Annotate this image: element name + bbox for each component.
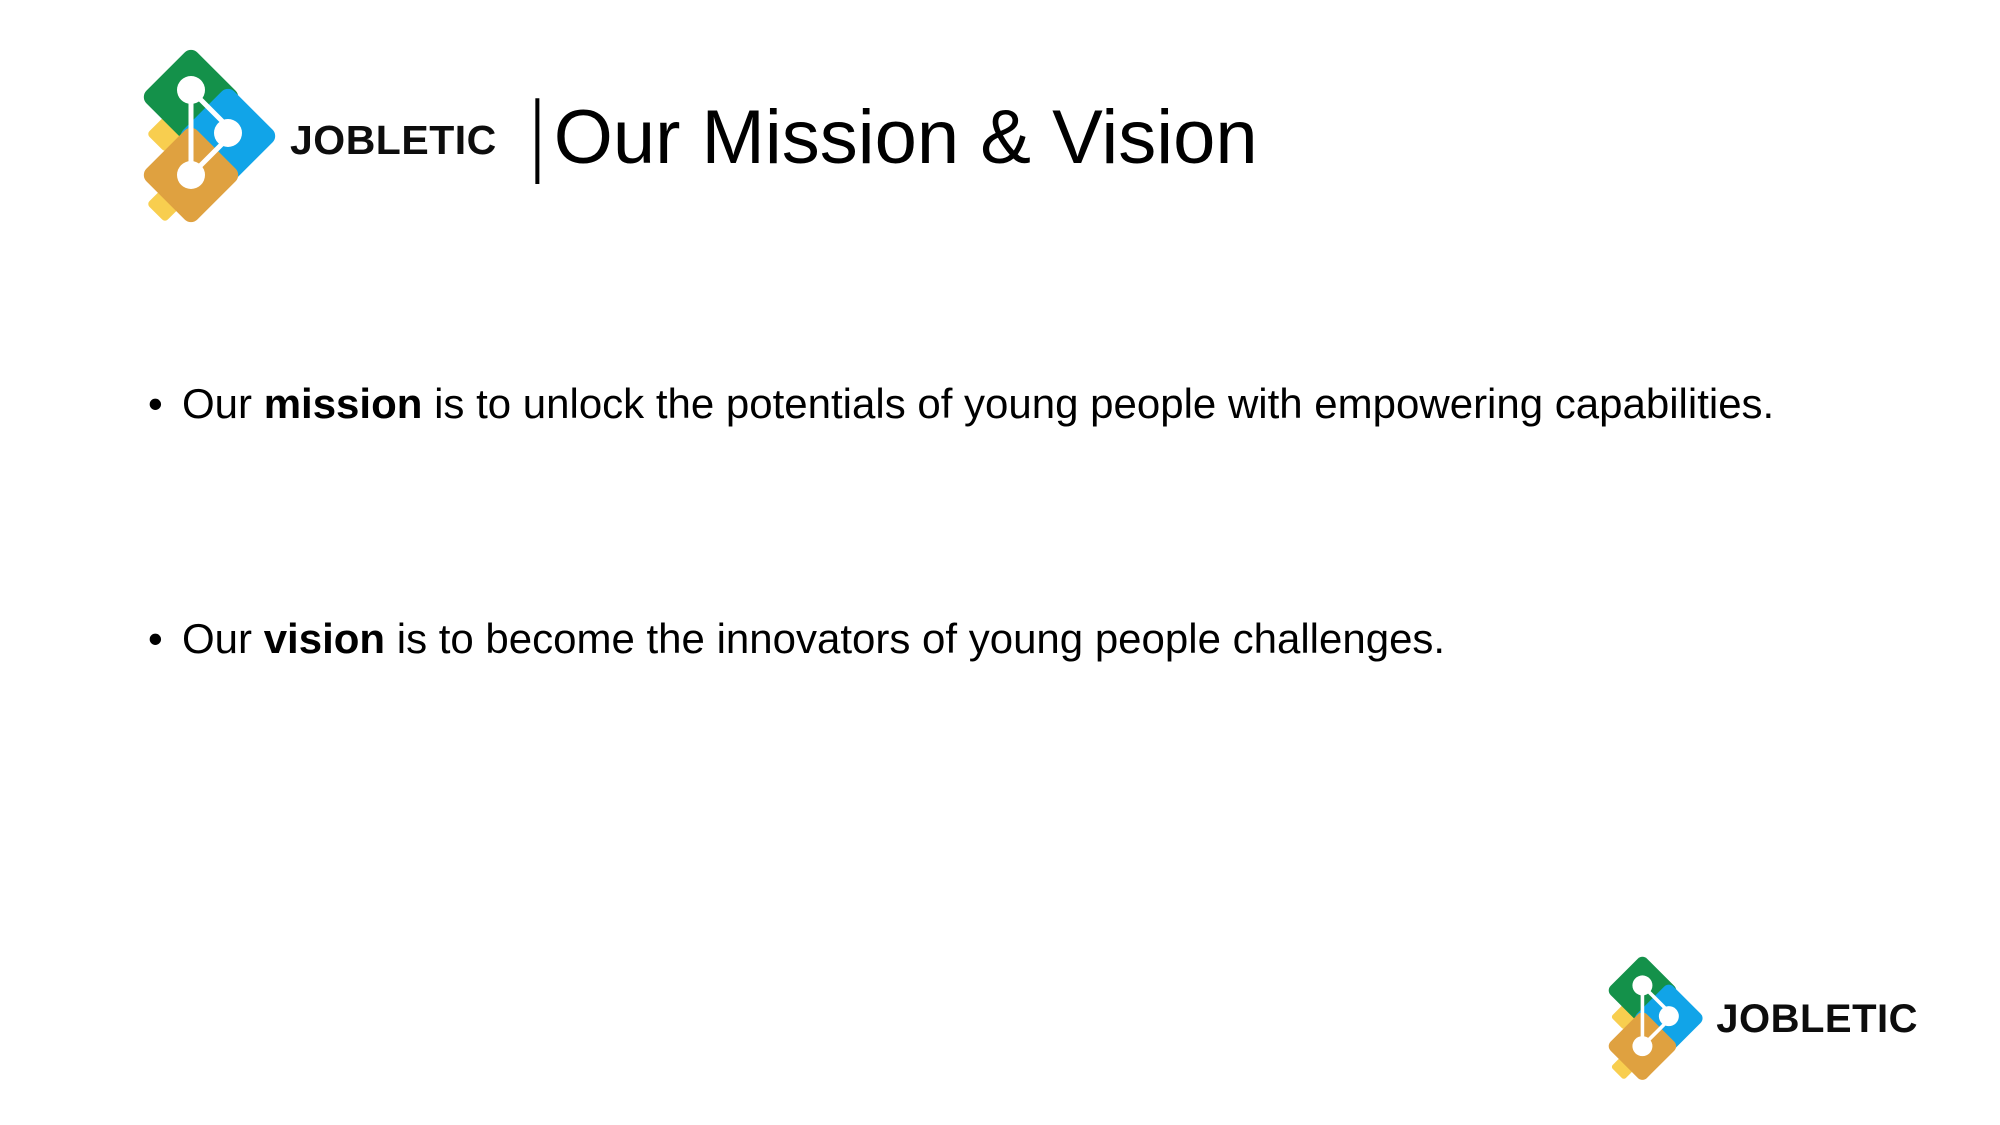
bullet-bold-word: mission <box>264 380 423 427</box>
jobletic-logo-icon <box>140 48 280 226</box>
page-title: Our Mission & Vision <box>554 100 1258 176</box>
title-separator: | <box>523 92 552 178</box>
brand-wordmark: JOBLETIC <box>290 120 497 161</box>
bullet-list: • Our mission is to unlock the potential… <box>148 378 1868 665</box>
jobletic-logo-icon <box>1606 955 1706 1083</box>
bullet-item-vision: • Our vision is to become the innovators… <box>148 613 1868 666</box>
bullet-spacer <box>148 431 1868 613</box>
bullet-text-vision: Our vision is to become the innovators o… <box>182 613 1868 666</box>
bullet-prefix: Our <box>182 615 264 662</box>
footer-brand-wordmark: JOBLETIC <box>1716 999 1918 1039</box>
footer-brand-logo: JOBLETIC <box>1606 955 1918 1083</box>
slide-header: JOBLETIC | Our Mission & Vision <box>140 52 1258 222</box>
bullet-prefix: Our <box>182 380 264 427</box>
bullet-bold-word: vision <box>264 615 385 662</box>
bullet-item-mission: • Our mission is to unlock the potential… <box>148 378 1868 431</box>
bullet-suffix: is to become the innovators of young peo… <box>385 615 1445 662</box>
slide-canvas: JOBLETIC | Our Mission & Vision • Our mi… <box>0 0 2000 1125</box>
bullet-text-mission: Our mission is to unlock the potentials … <box>182 378 1868 431</box>
bullet-marker: • <box>148 613 182 666</box>
bullet-suffix: is to unlock the potentials of young peo… <box>422 380 1774 427</box>
bullet-marker: • <box>148 378 182 431</box>
